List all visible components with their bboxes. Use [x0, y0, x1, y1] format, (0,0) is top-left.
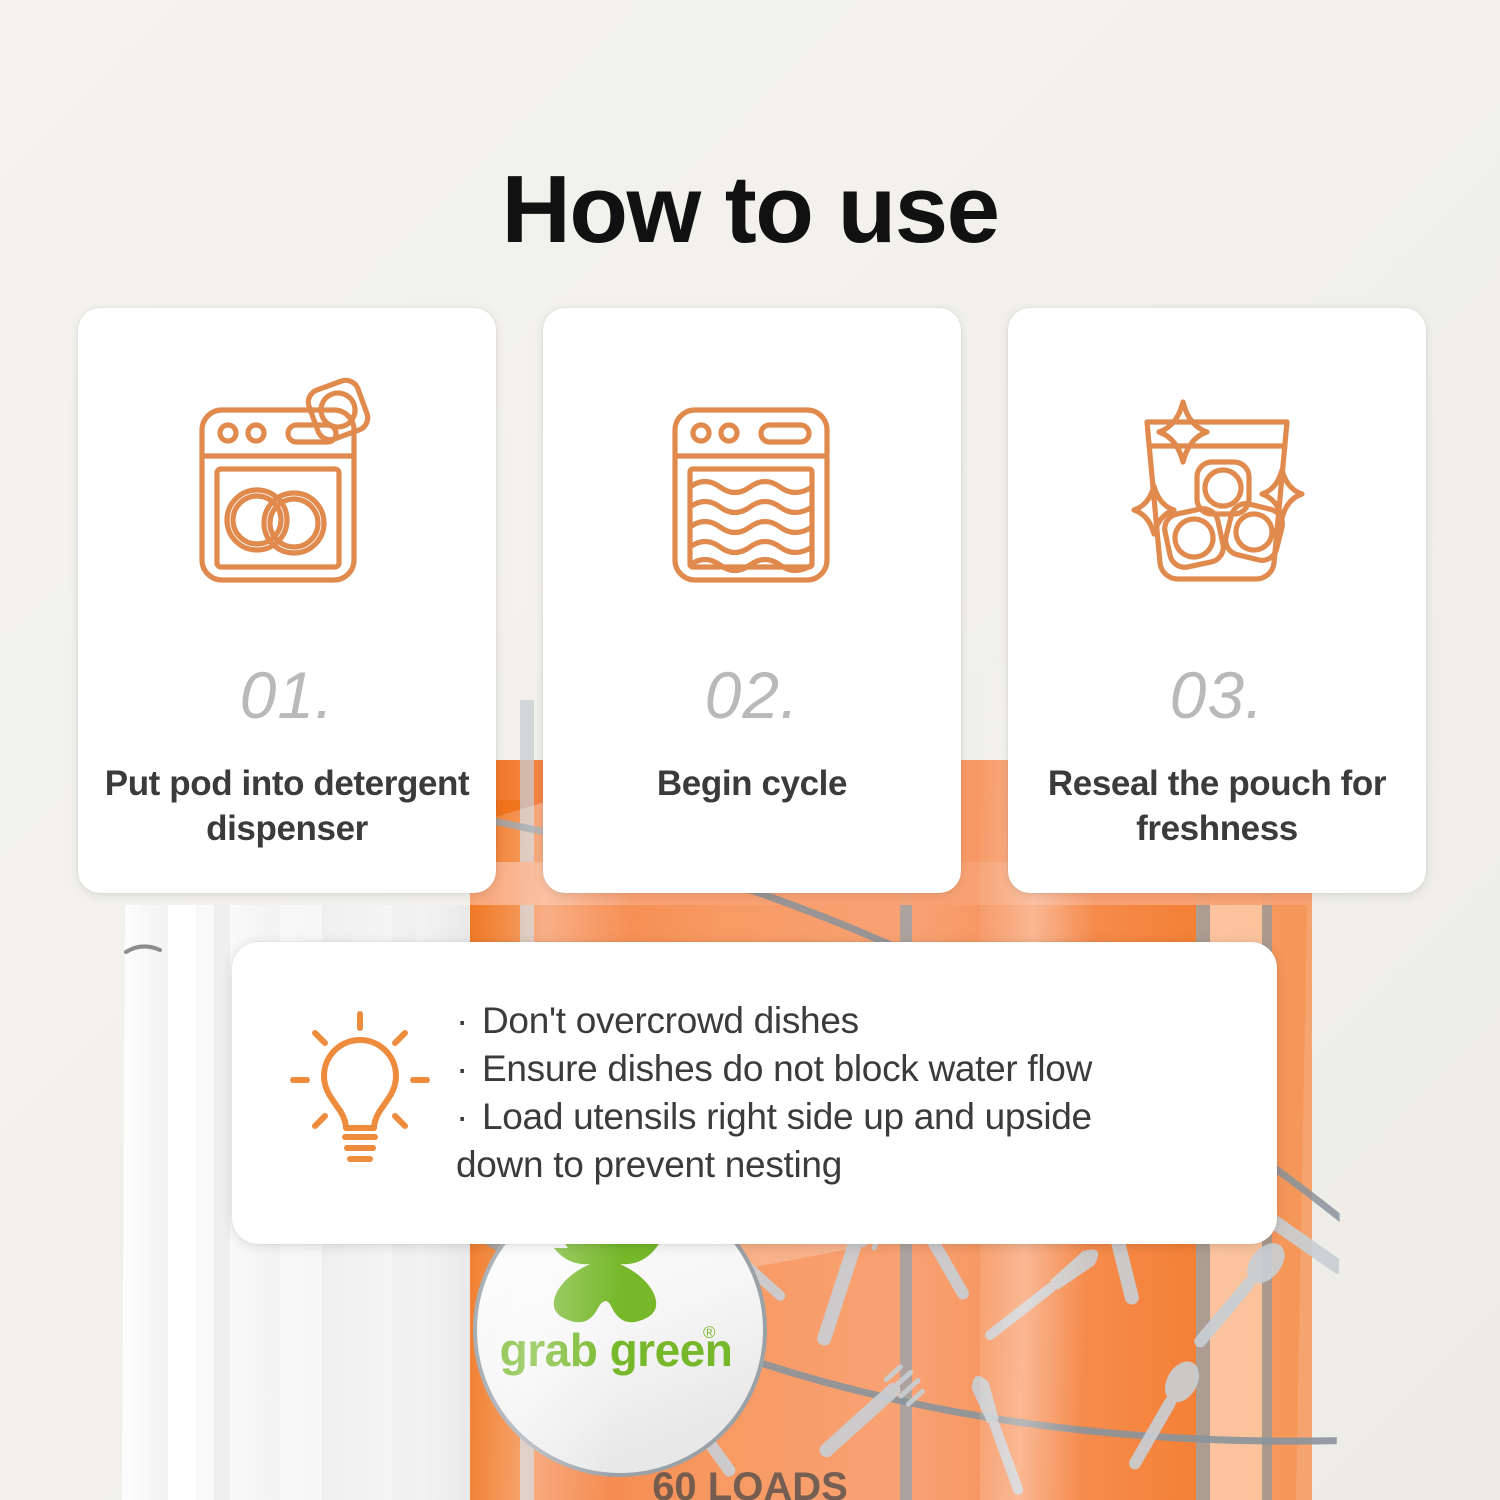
- svg-text:®: ®: [703, 1323, 716, 1342]
- step-label-1: Put pod into detergent dispenser: [92, 762, 482, 852]
- tip-item-2: ·Ensure dishes do not block water flow: [456, 1045, 1245, 1093]
- svg-text:60 LOADS: 60 LOADS: [652, 1465, 848, 1500]
- tip-bullet-3: ·: [456, 1093, 482, 1141]
- resealable-pouch-icon: [1102, 360, 1332, 630]
- tip-item-1: ·Don't overcrowd dishes: [456, 997, 1245, 1045]
- tip-bullet-1: ·: [456, 997, 482, 1045]
- tips-list: ·Don't overcrowd dishes ·Ensure dishes d…: [450, 997, 1245, 1189]
- step-card-3[interactable]: 03. Reseal the pouch for freshness: [1008, 308, 1426, 893]
- svg-text:grab green: grab green: [500, 1324, 733, 1376]
- tip-text-3: Load utensils right side up and upside d…: [456, 1096, 1092, 1185]
- steps-row: 01. Put pod into detergent dispenser 02.…: [78, 308, 1426, 893]
- step-card-1[interactable]: 01. Put pod into detergent dispenser: [78, 308, 496, 893]
- page-title: How to use: [0, 162, 1500, 258]
- step-number-1: 01.: [240, 662, 335, 728]
- step-label-2: Begin cycle: [657, 762, 847, 807]
- tip-text-1: Don't overcrowd dishes: [482, 1000, 859, 1041]
- tips-card[interactable]: ·Don't overcrowd dishes ·Ensure dishes d…: [232, 942, 1277, 1244]
- lightbulb-icon: [270, 1008, 450, 1178]
- tip-text-2: Ensure dishes do not block water flow: [482, 1048, 1092, 1089]
- tip-bullet-2: ·: [456, 1045, 482, 1093]
- dishwasher-with-pod-icon: [172, 360, 402, 630]
- dishwasher-running-icon: [637, 360, 867, 630]
- step-number-2: 02.: [705, 662, 800, 728]
- step-card-2[interactable]: 02. Begin cycle: [543, 308, 961, 893]
- step-number-3: 03.: [1170, 662, 1265, 728]
- step-label-3: Reseal the pouch for freshness: [1022, 762, 1412, 852]
- tip-item-3: ·Load utensils right side up and upside …: [456, 1093, 1245, 1189]
